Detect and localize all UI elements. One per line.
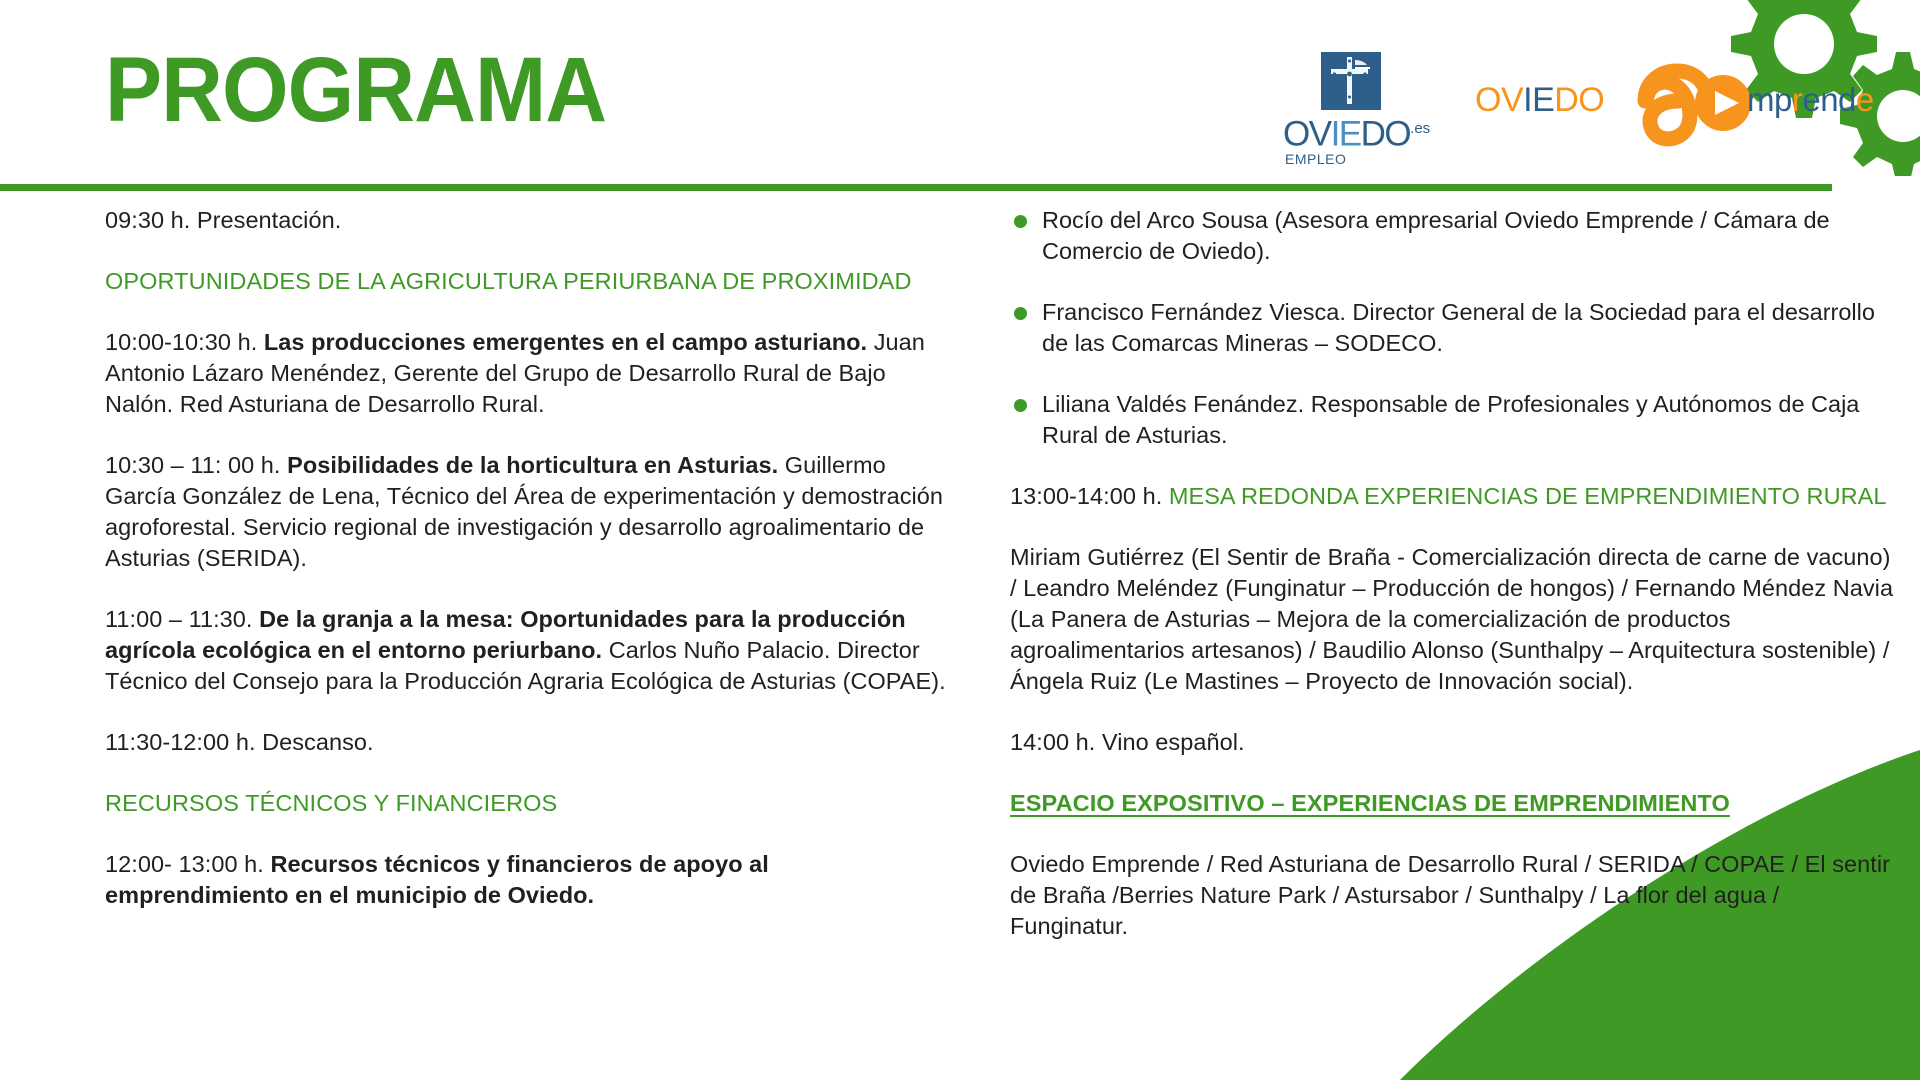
- speaker-bullet-item: Francisco Fernández Viesca. Director Gen…: [1010, 297, 1900, 359]
- program-item: 10:30 – 11: 00 h. Posibilidades de la ho…: [105, 450, 955, 574]
- emprende-word-mp: mp: [1747, 81, 1792, 118]
- bullet-dot-icon: [1014, 399, 1027, 412]
- bullet-dot-icon: [1014, 215, 1027, 228]
- speaker-text: Francisco Fernández Viesca. Director Gen…: [1042, 299, 1875, 356]
- speaker-text: Rocío del Arco Sousa (Asesora empresaria…: [1042, 207, 1830, 264]
- program-left-column: 09:30 h. Presentación. OPORTUNIDADES DE …: [105, 205, 955, 941]
- oviedo-es-word-ie: IE: [1331, 115, 1361, 154]
- item-text: Descanso.: [262, 729, 373, 755]
- section-heading: RECURSOS TÉCNICOS Y FINANCIEROS: [105, 788, 955, 819]
- program-item: 09:30 h. Presentación.: [105, 205, 955, 236]
- item-title: Las producciones emergentes en el campo …: [264, 329, 867, 355]
- emprende-word-r: r: [1792, 81, 1803, 118]
- emprende-word-end: end: [1802, 81, 1856, 118]
- espacio-expositivo-list: Oviedo Emprende / Red Asturiana de Desar…: [1010, 849, 1900, 942]
- emprende-word-e: e: [1856, 81, 1874, 118]
- item-time: 11:30-12:00 h.: [105, 729, 262, 755]
- espacio-expositivo-heading: ESPACIO EXPOSITIVO – EXPERIENCIAS DE EMP…: [1010, 788, 1900, 819]
- oviedo-es-empleo-logo: OVIEDO.es EMPLEO: [1283, 52, 1433, 174]
- page-header: PROGRAMA OVIEDO.es EMPLEO: [0, 0, 1920, 200]
- bullet-dot-icon: [1014, 307, 1027, 320]
- emprende-word-ov: OV: [1475, 81, 1523, 119]
- emprende-wordmark-oviedo: OVIEDO: [1475, 81, 1604, 120]
- oviedo-es-word-ov: OV: [1283, 115, 1331, 154]
- oviedo-es-subtitle: EMPLEO: [1285, 151, 1346, 167]
- item-time: 10:00-10:30 h.: [105, 329, 264, 355]
- oviedo-es-word-do: DO: [1361, 115, 1411, 154]
- mesa-redonda-label: MESA REDONDA EXPERIENCIAS DE EMPRENDIMIE…: [1169, 483, 1887, 509]
- speaker-text: Liliana Valdés Fenández. Responsable de …: [1042, 391, 1859, 448]
- item-time: 11:00 – 11:30.: [105, 606, 259, 632]
- oviedo-crest-icon: [1321, 52, 1381, 110]
- page-title: PROGRAMA: [105, 44, 606, 136]
- mesa-redonda-item: 13:00-14:00 h. MESA REDONDA EXPERIENCIAS…: [1010, 481, 1900, 512]
- emprende-word-ie: IE: [1523, 81, 1554, 119]
- program-item: 11:00 – 11:30. De la granja a la mesa: O…: [105, 604, 955, 697]
- participants-paragraph: Miriam Gutiérrez (El Sentir de Braña - C…: [1010, 542, 1900, 697]
- item-time: 13:00-14:00 h.: [1010, 483, 1169, 509]
- item-text: Presentación.: [197, 207, 341, 233]
- program-item: 12:00- 13:00 h. Recursos técnicos y fina…: [105, 849, 955, 911]
- program-item: 11:30-12:00 h. Descanso.: [105, 727, 955, 758]
- oviedo-emprende-logo: OVIEDO mprende: [1475, 55, 1815, 155]
- speaker-bullet-item: Liliana Valdés Fenández. Responsable de …: [1010, 389, 1900, 451]
- header-divider: [0, 184, 1832, 191]
- item-time: 09:30 h.: [105, 207, 197, 233]
- vino-item: 14:00 h. Vino español.: [1010, 727, 1900, 758]
- item-title: Posibilidades de la horticultura en Astu…: [287, 452, 778, 478]
- program-right-column: Rocío del Arco Sousa (Asesora empresaria…: [1010, 205, 1900, 972]
- item-time: 10:30 – 11: 00 h.: [105, 452, 287, 478]
- section-heading: OPORTUNIDADES DE LA AGRICULTURA PERIURBA…: [105, 266, 955, 297]
- oviedo-es-suffix: .es: [1410, 120, 1430, 137]
- item-time: 12:00- 13:00 h.: [105, 851, 270, 877]
- emprende-wordmark-mprende: mprende: [1747, 81, 1874, 119]
- emprende-e-play-icon: [1627, 57, 1755, 149]
- speaker-bullet-item: Rocío del Arco Sousa (Asesora empresaria…: [1010, 205, 1900, 267]
- oviedo-es-wordmark: OVIEDO.es: [1283, 110, 1430, 154]
- emprende-word-do: DO: [1554, 81, 1604, 119]
- program-item: 10:00-10:30 h. Las producciones emergent…: [105, 327, 955, 420]
